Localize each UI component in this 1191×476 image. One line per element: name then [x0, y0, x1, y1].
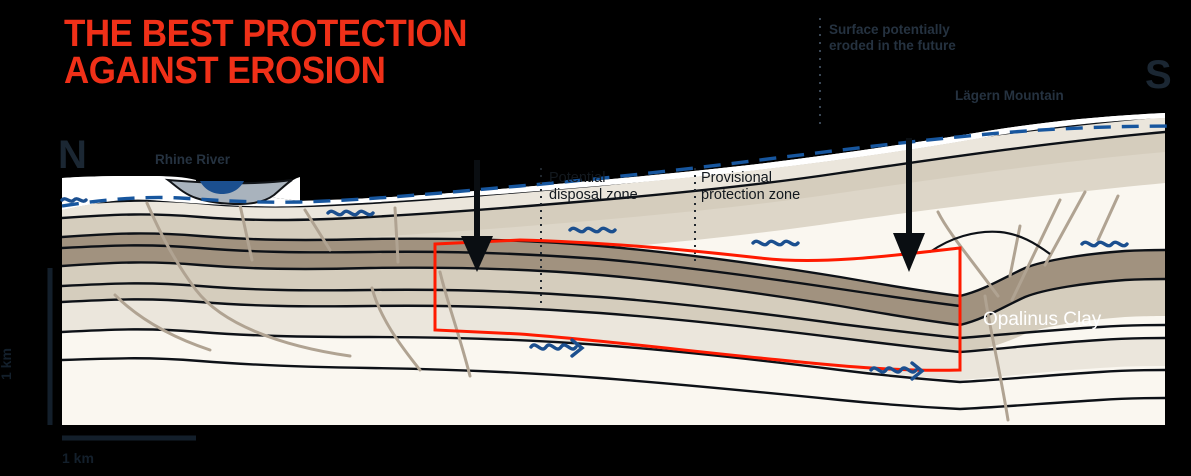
label-lagern-mountain: Lägern Mountain [955, 88, 1064, 104]
label-provisional-protection-zone: Provisional protection zone [701, 170, 800, 204]
groundwater-squiggle [1082, 242, 1127, 245]
scale-label-vertical: 1 km [0, 348, 14, 380]
label-opalinus-clay: Opalinus Clay [983, 309, 1101, 331]
compass-marker-south: S [1145, 55, 1172, 95]
scale-label-horizontal: 1 km [62, 450, 94, 466]
compass-marker-north: N [58, 135, 87, 175]
label-surface-eroded: Surface potentially eroded in the future [829, 22, 956, 53]
groundwater-squiggle [570, 228, 615, 231]
groundwater-squiggle [753, 241, 798, 244]
label-potential-disposal-zone: Potential disposal zone [549, 170, 638, 204]
diagram-canvas: THE BEST PROTECTION AGAINST EROSION N S … [0, 0, 1191, 476]
geological-layers [55, 100, 1170, 440]
page-title: THE BEST PROTECTION AGAINST EROSION [64, 16, 467, 90]
label-rhine-river: Rhine River [155, 152, 230, 168]
groundwater-squiggle [328, 211, 373, 214]
groundwater-squiggle [62, 199, 86, 201]
